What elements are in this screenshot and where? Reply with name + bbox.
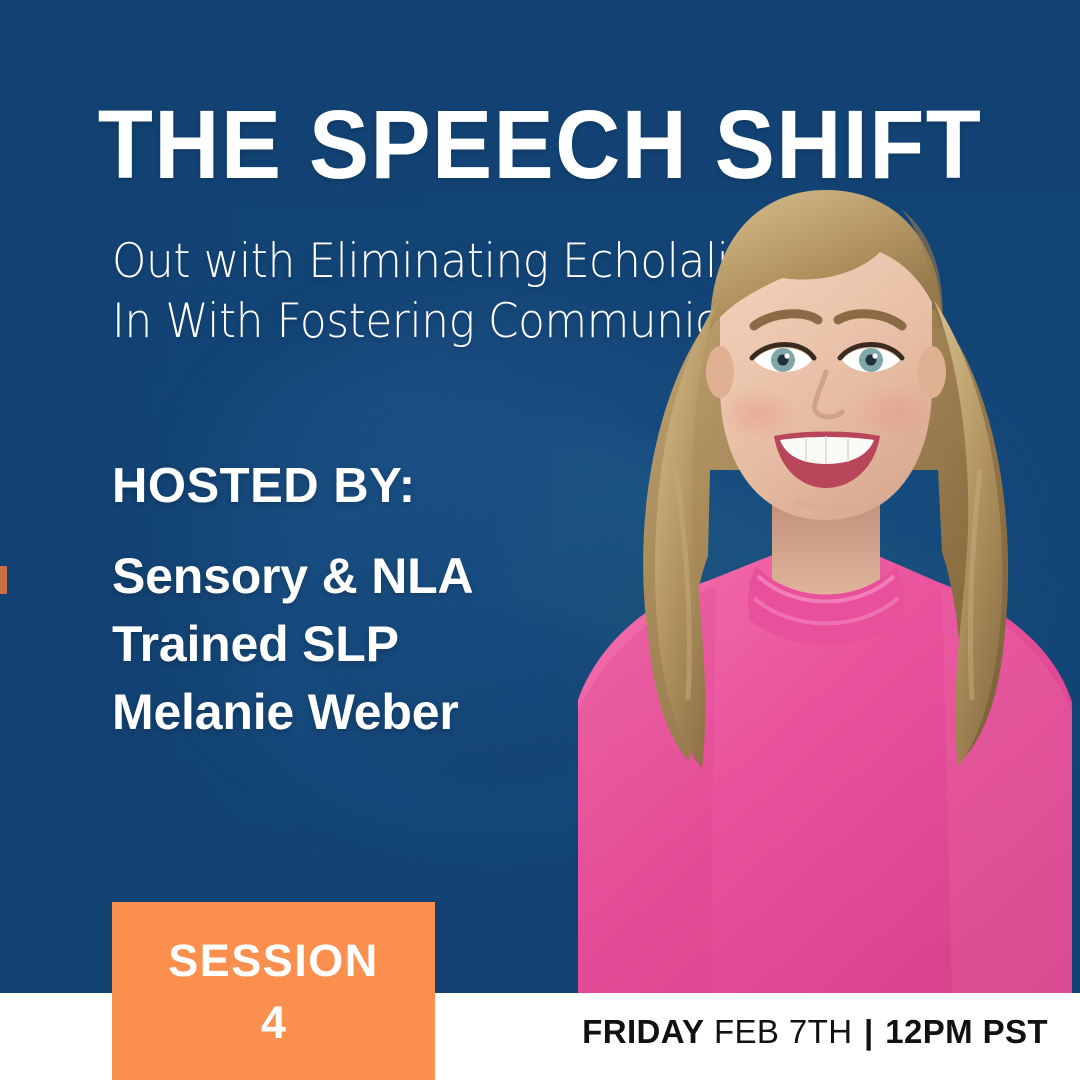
speaker-photo <box>560 0 1080 993</box>
session-badge: SESSION 4 <box>112 902 435 1080</box>
event-datetime: FRIDAY FEB 7TH | 12PM PST <box>582 1013 1048 1051</box>
hosted-by-block: HOSTED BY: Sensory & NLA Trained SLP Mel… <box>112 460 473 746</box>
event-time: 12PM PST <box>885 1013 1048 1050</box>
ear-right <box>918 346 946 398</box>
session-label: SESSION <box>112 938 435 983</box>
host-name-line-3: Melanie Weber <box>112 678 473 746</box>
host-name-line-1: Sensory & NLA <box>112 542 473 610</box>
orange-edge-sliver <box>0 566 7 594</box>
session-number: 4 <box>112 1000 435 1045</box>
host-name-line-2: Trained SLP <box>112 610 473 678</box>
datetime-separator: | <box>862 1013 876 1050</box>
poster-canvas: THE SPEECH SHIFT Out with Eliminating Ec… <box>0 0 1080 1080</box>
speaker-portrait-illustration <box>560 0 1080 993</box>
event-date: FEB 7TH <box>714 1013 853 1050</box>
cheek-left <box>718 386 798 442</box>
event-day: FRIDAY <box>582 1013 704 1050</box>
ear-left <box>706 346 734 398</box>
cheek-right <box>856 386 936 442</box>
hosted-by-label: HOSTED BY: <box>112 460 473 514</box>
